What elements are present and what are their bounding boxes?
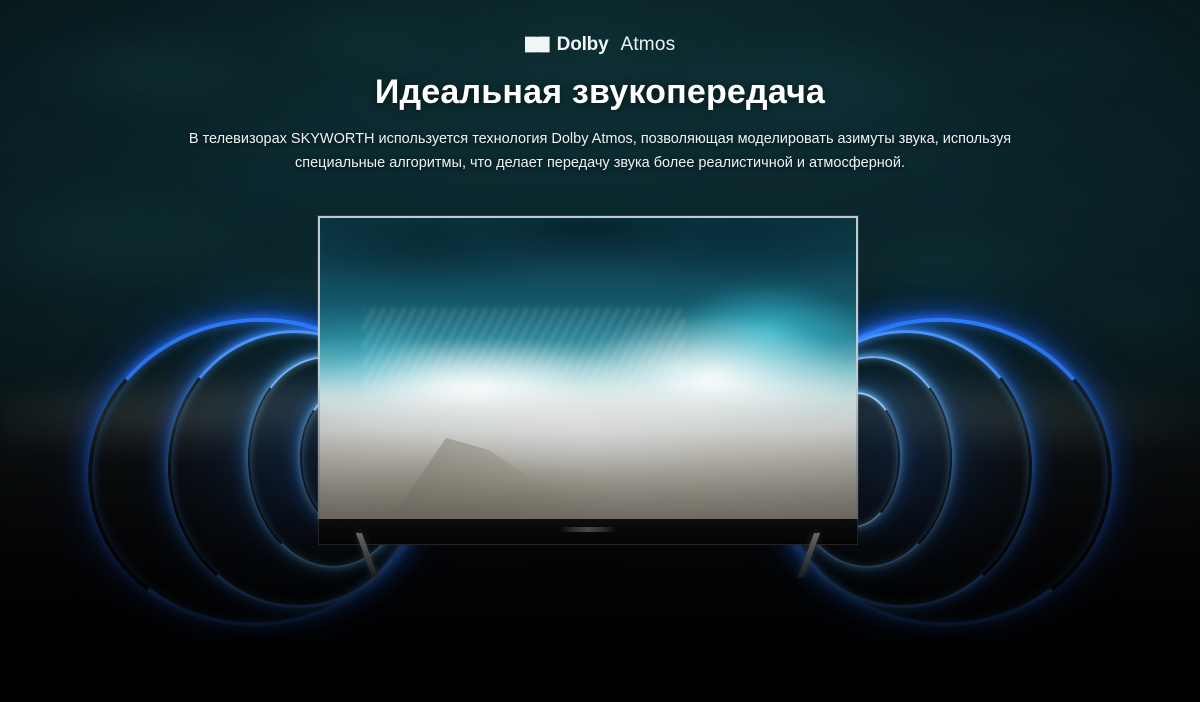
description-text: В телевизорах SKYWORTH используется техн… [180,128,1020,176]
atmos-wordmark: Atmos [620,35,675,54]
dolby-double-d-icon [525,36,550,53]
copy-block: Dolby Atmos Идеальная звукопередача В те… [0,0,1200,176]
dolby-atmos-logo: Dolby Atmos [0,32,1200,56]
page-title: Идеальная звукопередача [0,73,1200,112]
dolby-atmos-feature-banner: Dolby Atmos Идеальная звукопередача В те… [0,0,1200,702]
dolby-wordmark: Dolby [557,35,609,54]
